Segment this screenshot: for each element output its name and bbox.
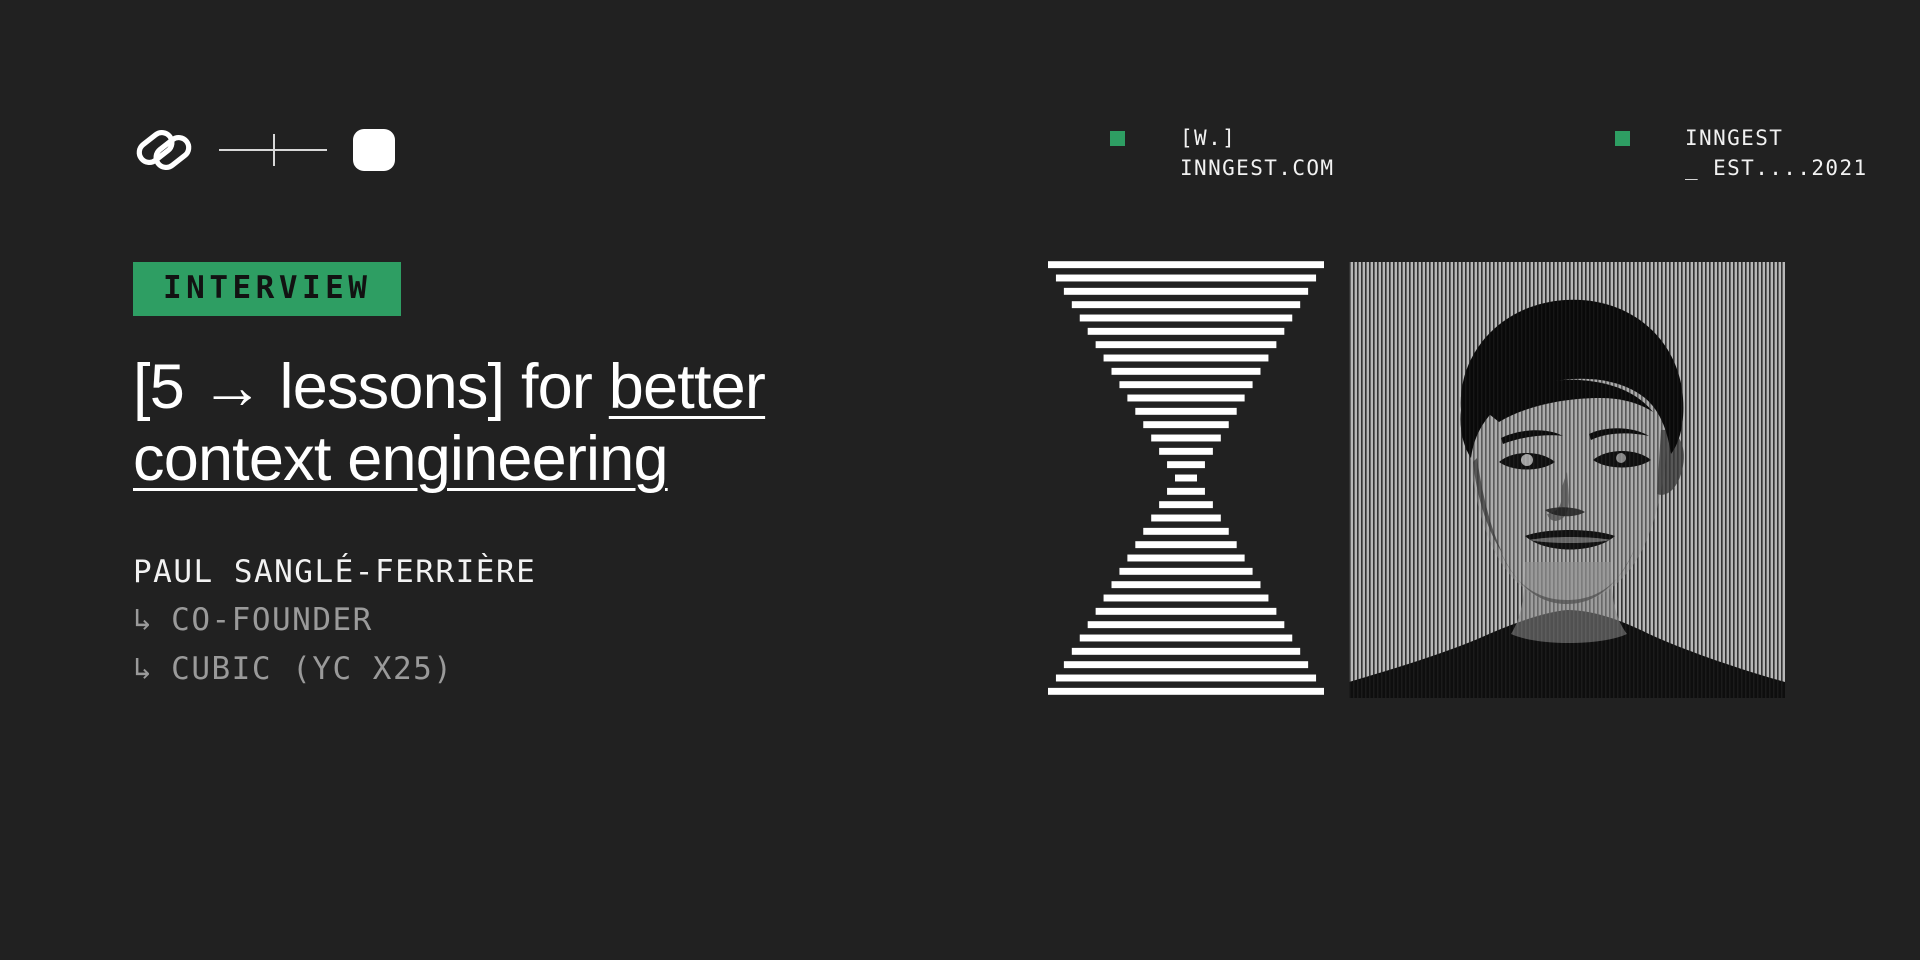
- interview-card: [W.]INNGEST.COM INNGEST_ EST....2021 INT…: [0, 0, 1920, 960]
- meta-established-line1: INNGEST: [1685, 126, 1783, 150]
- meta-website-line1: [W.]: [1180, 126, 1236, 150]
- byline: PAUL SANGLÉ-FERRIÈRE ↳CO-FOUNDER ↳CUBIC …: [133, 552, 953, 691]
- meta-established: INNGEST_ EST....2021: [1615, 123, 1868, 183]
- halftone-portrait-image: [1349, 262, 1785, 698]
- headline-part1: [5 → lessons] for: [133, 352, 609, 422]
- inngest-infinity-logo-icon[interactable]: [133, 127, 195, 173]
- meta-established-text: INNGEST_ EST....2021: [1685, 123, 1868, 183]
- cross-rule-icon: [219, 127, 327, 173]
- author-name: PAUL SANGLÉ-FERRIÈRE: [133, 552, 953, 594]
- status-badge: INTERVIEW: [133, 262, 401, 316]
- rounded-square-icon[interactable]: [353, 129, 395, 171]
- green-square-bullet-icon: [1110, 131, 1125, 146]
- role-label: CUBIC (YC X25): [171, 651, 453, 687]
- green-square-bullet-icon: [1615, 131, 1630, 146]
- role-label: CO-FOUNDER: [171, 602, 373, 638]
- headline-underline2: context engineering: [133, 424, 668, 494]
- page-title: [5 → lessons] for bettercontext engineer…: [133, 352, 953, 496]
- meta-established-line2: _ EST....2021: [1685, 153, 1868, 183]
- role-item: ↳CUBIC (YC X25): [133, 648, 953, 691]
- role-item: ↳CO-FOUNDER: [133, 599, 953, 642]
- arrow-icon: ↳: [133, 602, 153, 638]
- brand-row: [133, 118, 395, 182]
- meta-website-line2[interactable]: INNGEST.COM: [1180, 153, 1334, 183]
- meta-website: [W.]INNGEST.COM: [1110, 123, 1334, 183]
- rule-vertical: [273, 134, 275, 166]
- header: [W.]INNGEST.COM INNGEST_ EST....2021: [133, 118, 1860, 188]
- arrow-icon: ↳: [133, 651, 153, 687]
- hourglass-stripes-icon: [1046, 258, 1326, 698]
- meta-website-text: [W.]INNGEST.COM: [1180, 123, 1334, 183]
- content-column: INTERVIEW [5 → lessons] for bettercontex…: [133, 262, 953, 691]
- headline-underline1: better: [609, 352, 765, 422]
